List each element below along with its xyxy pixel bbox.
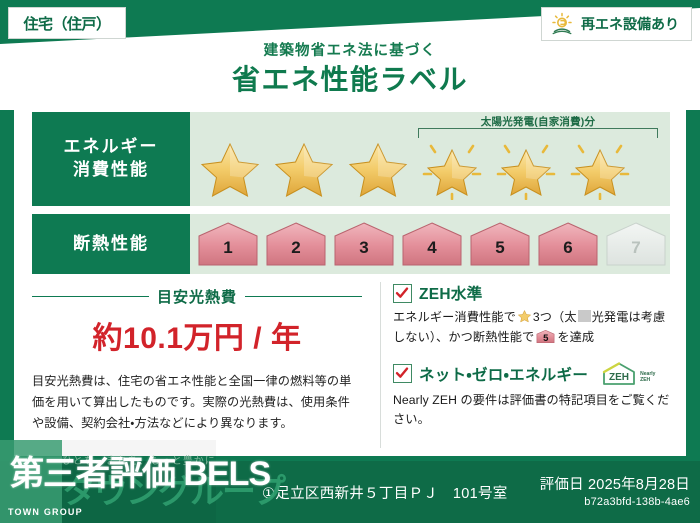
house-grade-icon: 2 — [264, 221, 328, 267]
check-icon — [393, 284, 412, 303]
star-solar-icon — [492, 138, 560, 200]
svg-text:ZEH: ZEH — [609, 372, 629, 383]
utility-cost-heading-label: 目安光熱費 — [157, 286, 237, 307]
sun-icon — [550, 12, 574, 36]
zeh-standard-description: エネルギー消費性能で3つ（太光発電は考慮しない）、かつ断熱性能で5を達成 — [393, 308, 672, 348]
star-icon — [270, 138, 338, 200]
energy-label-line1: エネルギー — [64, 136, 159, 159]
zeh-logo-sub2: ZEH — [640, 377, 650, 383]
redacted-character — [578, 310, 591, 322]
renewable-equipment-badge: 再エネ設備あり — [541, 7, 692, 41]
solar-generation-caption: 太陽光発電(自家消費)分 — [418, 114, 658, 129]
check-icon — [393, 364, 412, 383]
main-panel: エネルギー 消費性能 太陽光発電(自家消費)分 — [14, 104, 686, 456]
house-grade-number: 1 — [196, 238, 260, 258]
house-grade-icon: 6 — [536, 221, 600, 267]
property-address: ①足立区西新井５丁目ＰＪ 101号室 — [262, 482, 508, 503]
zeh-standard-header: ZEH水準 — [393, 282, 672, 304]
house-grade-icon: 5 — [468, 221, 532, 267]
insulation-grade-area: 1 2 3 4 5 — [190, 214, 670, 274]
housing-type-tag: 住宅（住戸） — [8, 7, 126, 39]
energy-performance-rating-area: 太陽光発電(自家消費)分 — [190, 112, 670, 206]
energy-performance-row: エネルギー 消費性能 太陽光発電(自家消費)分 — [32, 112, 670, 206]
net-zero-energy-title: ネット・ゼロ・エネルギー — [419, 363, 588, 385]
net-zero-energy-description: Nearly ZEH の要件は評価書の特記項目をご覧ください。 — [393, 391, 672, 431]
rule-left — [32, 296, 149, 297]
zeh-desc-part1: エネルギー消費性能で — [393, 310, 516, 324]
utility-cost-note: 目安光熱費は、住宅の省エネ性能と全国一律の燃料等の単価を用いて算出したものです。… — [32, 371, 362, 434]
utility-cost-heading: 目安光熱費 — [32, 286, 362, 307]
star-rating — [196, 138, 634, 200]
insulation-performance-label-box: 断熱性能 — [32, 214, 190, 274]
zeh-standard-title: ZEH水準 — [419, 282, 483, 304]
zeh-logo-subtext: Nearly ZEH — [640, 372, 655, 387]
evaluation-id: b72a3bfd-138b-4ae6 — [540, 496, 690, 508]
insulation-grade-scale: 1 2 3 4 5 — [196, 221, 668, 267]
energy-performance-label: 住宅（住戸） 再エネ設備あり 建築物省エネ法に基づく 省エネ性能ラベル — [0, 0, 700, 523]
zeh-section: ZEH水準 エネルギー消費性能で3つ（太光発電は考慮しない）、かつ断熱性能で5を… — [380, 282, 672, 448]
house-grade-number: 6 — [536, 238, 600, 258]
rule-right — [245, 296, 362, 297]
utility-cost-section: 目安光熱費 約10.1万円 / 年 目安光熱費は、住宅の省エネ性能と全国一律の燃… — [32, 282, 362, 448]
zeh-logo: ZEH Nearly ZEH — [600, 361, 655, 387]
housing-type-label: 住宅（住戸） — [23, 13, 110, 34]
evaluation-date: 評価日 2025年8月28日 — [540, 473, 690, 494]
star-icon — [196, 138, 264, 200]
evaluation-info: 評価日 2025年8月28日 b72a3bfd-138b-4ae6 — [540, 473, 690, 508]
star-icon — [344, 138, 412, 200]
energy-label-line2: 消費性能 — [73, 159, 149, 182]
zeh-desc-part4: を達成 — [557, 330, 594, 344]
house-grade-number: 3 — [332, 238, 396, 258]
house-grade-icon: 4 — [400, 221, 464, 267]
zeh-desc-part2: 3つ（太 — [533, 310, 577, 324]
zeh-standard-block: ZEH水準 エネルギー消費性能で3つ（太光発電は考慮しない）、かつ断熱性能で5を… — [393, 282, 672, 348]
insulation-performance-row: 断熱性能 1 — [32, 214, 670, 274]
inline-house-grade-icon: 5 — [536, 329, 555, 344]
house-grade-number: 4 — [400, 238, 464, 258]
house-grade-icon: 1 — [196, 221, 260, 267]
star-solar-icon — [418, 138, 486, 200]
utility-cost-value: 約10.1万円 / 年 — [32, 313, 362, 357]
solar-bracket — [418, 128, 658, 138]
house-grade-icon: 3 — [332, 221, 396, 267]
house-grade-icon-inactive: 7 — [604, 221, 668, 267]
insulation-label: 断熱性能 — [73, 233, 149, 256]
star-solar-icon — [566, 138, 634, 200]
house-grade-number: 7 — [604, 238, 668, 258]
house-grade-number: 5 — [468, 238, 532, 258]
inline-house-grade-number: 5 — [536, 331, 555, 346]
third-party-bels-watermark: 第三者評価 BELS — [10, 446, 270, 495]
house-grade-number: 2 — [264, 238, 328, 258]
energy-performance-label-box: エネルギー 消費性能 — [32, 112, 190, 206]
renewable-badge-label: 再エネ設備あり — [581, 14, 679, 34]
inline-star-icon — [517, 309, 532, 323]
net-zero-energy-header: ネット・ゼロ・エネルギー ZEH Nearly ZEH — [393, 361, 672, 387]
net-zero-energy-block: ネット・ゼロ・エネルギー ZEH Nearly ZEH Nearly ZE — [393, 361, 672, 431]
